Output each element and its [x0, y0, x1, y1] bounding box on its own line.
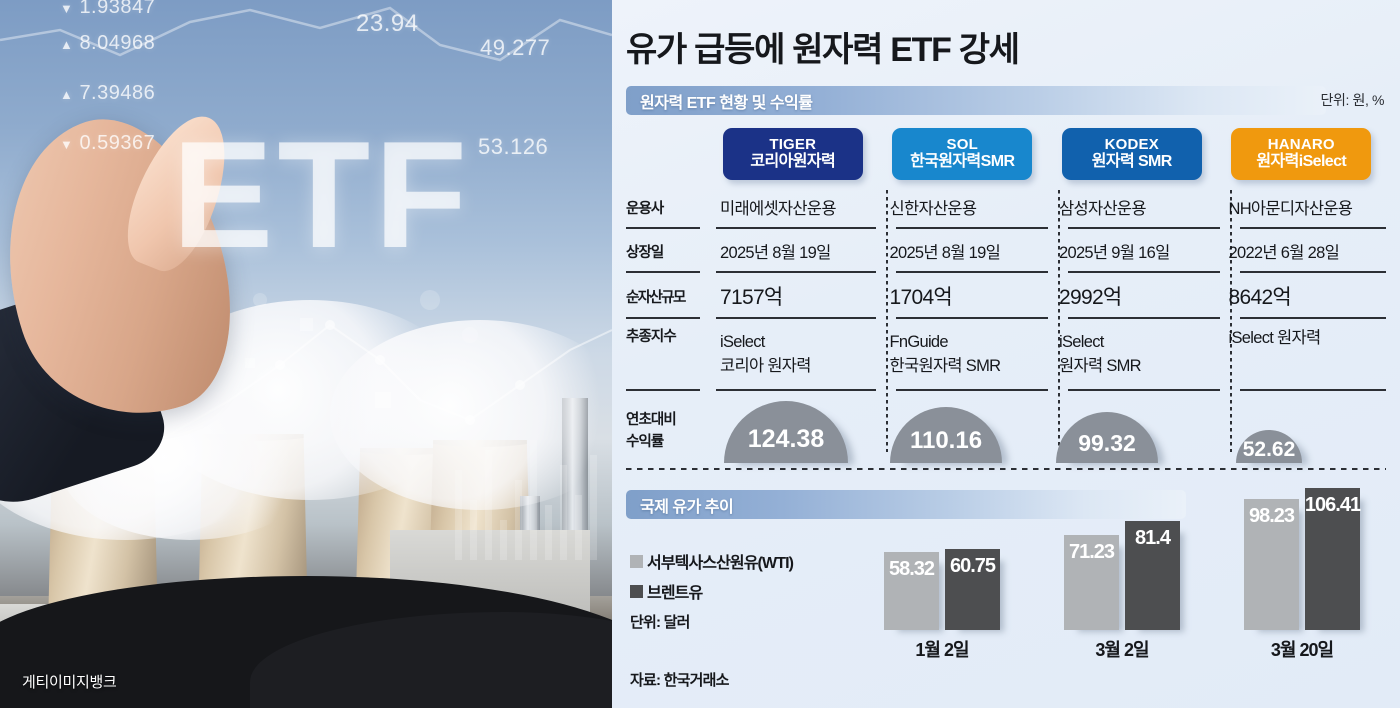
bar-brent: 60.75	[945, 549, 1000, 630]
overlay-number: ▼ 1.93847	[60, 0, 155, 19]
overlay-number-text: 53.126	[478, 134, 548, 160]
bar-pair: 98.23 106.41	[1244, 472, 1360, 630]
bar-wti: 98.23	[1244, 499, 1299, 630]
row-label: 연초대비 수익률	[626, 391, 708, 469]
etf-brand: KODEX	[1105, 137, 1159, 154]
info-panel: 유가 급등에 원자력 ETF 강세 원자력 ETF 현황 및 수익률 단위: 원…	[612, 0, 1400, 708]
table-cell: iSelect 원자력 SMR	[1047, 319, 1217, 391]
overlay-number-text: 23.94	[356, 10, 419, 38]
legend-label-brent: 브렌트유	[647, 579, 702, 603]
bar-tick-label: 1월 2일	[915, 636, 968, 662]
bar-value-brent: 60.75	[950, 555, 995, 578]
overlay-number: ▼ 0.59367	[60, 132, 155, 155]
bar-pair: 58.32 60.75	[884, 472, 1000, 630]
table-cell: iSelect 원자력	[1217, 319, 1387, 391]
overlay-number-text: 8.04968	[79, 32, 155, 54]
bar-brent: 106.41	[1305, 488, 1360, 630]
legend-item-brent: 브렌트유	[630, 579, 702, 603]
return-dome: 124.38	[724, 401, 848, 463]
row-label-spacer	[626, 128, 708, 185]
section-title-etf: 원자력 ETF 현황 및 수익률	[640, 89, 812, 113]
table-cell: 신한자산운용	[878, 185, 1048, 229]
etf-brand: SOL	[947, 137, 978, 154]
row-label-line2: 수익률	[626, 432, 663, 454]
return-value: 124.38	[748, 425, 824, 454]
bar-group: 98.23 106.41 3월 20일	[1212, 472, 1392, 662]
table-row: 추종지수 iSelect 코리아 원자력 FnGuide 한국원자력 SMR i…	[626, 319, 1386, 391]
return-value: 52.62	[1243, 438, 1296, 462]
row-label: 추종지수	[626, 319, 708, 391]
oil-bar-chart: 58.32 60.75 1월 2일 71.23 81.4 3	[852, 472, 1392, 662]
etf-wordmark: ETF	[172, 108, 471, 283]
page-title: 유가 급등에 원자력 ETF 강세	[626, 22, 1019, 71]
return-cell: 124.38	[708, 391, 874, 463]
index-line1: FnGuide	[890, 331, 948, 355]
bar-value-wti: 98.23	[1249, 505, 1294, 528]
etf-pill-tiger[interactable]: TIGER 코리아원자력	[723, 128, 863, 180]
table-cell: 2025년 9월 16일	[1047, 229, 1217, 273]
table-row: 운용사 미래에셋자산운용 신한자산운용 삼성자산운용 NH아문디자산운용	[626, 185, 1386, 229]
index-line1: iSelect 원자력	[1229, 327, 1321, 351]
bar-brent: 81.4	[1125, 521, 1180, 630]
row-label: 순자산규모	[626, 273, 708, 319]
bar-tick-label: 3월 20일	[1271, 636, 1333, 662]
table-cell: 삼성자산운용	[1047, 185, 1217, 229]
bar-pair: 71.23 81.4	[1064, 472, 1180, 630]
etf-pill-sol[interactable]: SOL 한국원자력SMR	[892, 128, 1032, 180]
table-row-return: 연초대비 수익률 124.38 110.16 99.32	[626, 391, 1386, 469]
table-cell: NH아문디자산운용	[1217, 185, 1387, 229]
index-line2: 코리아 원자력	[720, 355, 811, 379]
table-cell: FnGuide 한국원자력 SMR	[878, 319, 1048, 391]
etf-brand-cell[interactable]: SOL 한국원자력SMR	[878, 128, 1048, 185]
bar-value-brent: 106.41	[1305, 494, 1360, 517]
table-cell: 7157억	[708, 273, 878, 319]
legend-item-wti: 서부텍사스산원유(WTI)	[630, 549, 793, 573]
row-label: 상장일	[626, 229, 708, 273]
section-header-etf: 원자력 ETF 현황 및 수익률	[626, 86, 1326, 115]
return-value: 99.32	[1078, 430, 1136, 457]
index-line2: 원자력 SMR	[1059, 355, 1141, 379]
table-cell: 2025년 8월 19일	[708, 229, 878, 273]
return-cell: 110.16	[874, 391, 1040, 463]
return-cell: 99.32	[1040, 391, 1206, 463]
bar-value-brent: 81.4	[1135, 527, 1170, 550]
bar-group: 58.32 60.75 1월 2일	[852, 472, 1032, 662]
table-cell: iSelect 코리아 원자력	[708, 319, 878, 391]
table-row: 상장일 2025년 8월 19일 2025년 8월 19일 2025년 9월 1…	[626, 229, 1386, 273]
row-label-line1: 연초대비	[626, 410, 676, 432]
overlay-number: ▲ 8.04968	[60, 32, 155, 55]
etf-pill-hanaro[interactable]: HANARO 원자력iSelect	[1231, 128, 1371, 180]
legend-swatch-brent	[630, 585, 643, 598]
etf-brand: HANARO	[1268, 137, 1335, 154]
overlay-number-text: 0.59367	[79, 132, 155, 154]
etf-brand: TIGER	[769, 137, 816, 154]
bar-wti: 58.32	[884, 552, 939, 630]
table-cell: 2992억	[1047, 273, 1217, 319]
return-dome: 110.16	[890, 407, 1002, 463]
table-cell: 8642억	[1217, 273, 1387, 319]
etf-brand-cell[interactable]: HANARO 원자력iSelect	[1217, 128, 1387, 185]
triangle-up-icon: ▲	[60, 87, 73, 102]
row-label: 운용사	[626, 185, 708, 229]
etf-name: 한국원자력SMR	[910, 153, 1014, 171]
bar-wti: 71.23	[1064, 535, 1119, 630]
overlay-number-text: 7.39486	[79, 82, 155, 104]
index-line1: iSelect	[720, 331, 765, 355]
etf-pill-kodex[interactable]: KODEX 원자력 SMR	[1062, 128, 1202, 180]
table-cell: 2025년 8월 19일	[878, 229, 1048, 273]
etf-table: TIGER 코리아원자력 SOL 한국원자력SMR KODEX 원자력 SMR	[626, 128, 1386, 469]
return-dome: 52.62	[1236, 430, 1302, 463]
bar-tick-label: 3월 2일	[1095, 636, 1148, 662]
overlay-number-text: 49.277	[480, 35, 550, 61]
bar-group: 71.23 81.4 3월 2일	[1032, 472, 1212, 662]
index-line1: iSelect	[1059, 331, 1104, 355]
etf-name: 코리아원자력	[750, 153, 835, 171]
photo-credit: 게티이미지뱅크	[22, 671, 117, 692]
overlay-number: ▲ 7.39486	[60, 82, 155, 105]
source-label: 자료: 한국거래소	[630, 669, 729, 690]
section-divider	[626, 468, 1386, 470]
unit-label-etf: 단위: 원, %	[1321, 90, 1384, 110]
triangle-down-icon: ▼	[60, 137, 73, 152]
table-cell: 미래에셋자산운용	[708, 185, 878, 229]
etf-brand-cell[interactable]: KODEX 원자력 SMR	[1047, 128, 1217, 185]
etf-name: 원자력iSelect	[1256, 153, 1346, 171]
triangle-down-icon: ▼	[60, 1, 73, 16]
table-cell: 2022년 6월 28일	[1217, 229, 1387, 273]
section-title-oil: 국제 유가 추이	[640, 493, 733, 517]
table-row: 순자산규모 7157억 1704억 2992억 8642억	[626, 273, 1386, 319]
etf-brand-row: TIGER 코리아원자력 SOL 한국원자력SMR KODEX 원자력 SMR	[626, 128, 1386, 185]
unit-label-oil: 단위: 달러	[630, 611, 690, 632]
etf-name: 원자력 SMR	[1092, 153, 1172, 171]
return-value: 110.16	[910, 427, 982, 455]
bar-value-wti: 71.23	[1069, 541, 1114, 564]
overlay-number-text: 1.93847	[79, 0, 155, 18]
etf-brand-cell[interactable]: TIGER 코리아원자력	[708, 128, 878, 185]
hero-photo: ETF ▼ 1.93847 ▲ 8.04968 ▲ 7.39486 ▼ 0.59…	[0, 0, 612, 708]
bar-value-wti: 58.32	[889, 558, 934, 581]
triangle-up-icon: ▲	[60, 37, 73, 52]
legend-label-wti: 서부텍사스산원유(WTI)	[647, 549, 793, 573]
return-cell: 52.62	[1206, 391, 1386, 463]
table-cell: 1704억	[878, 273, 1048, 319]
return-dome: 99.32	[1056, 412, 1158, 463]
legend-swatch-wti	[630, 555, 643, 568]
index-line2: 한국원자력 SMR	[890, 355, 1001, 379]
